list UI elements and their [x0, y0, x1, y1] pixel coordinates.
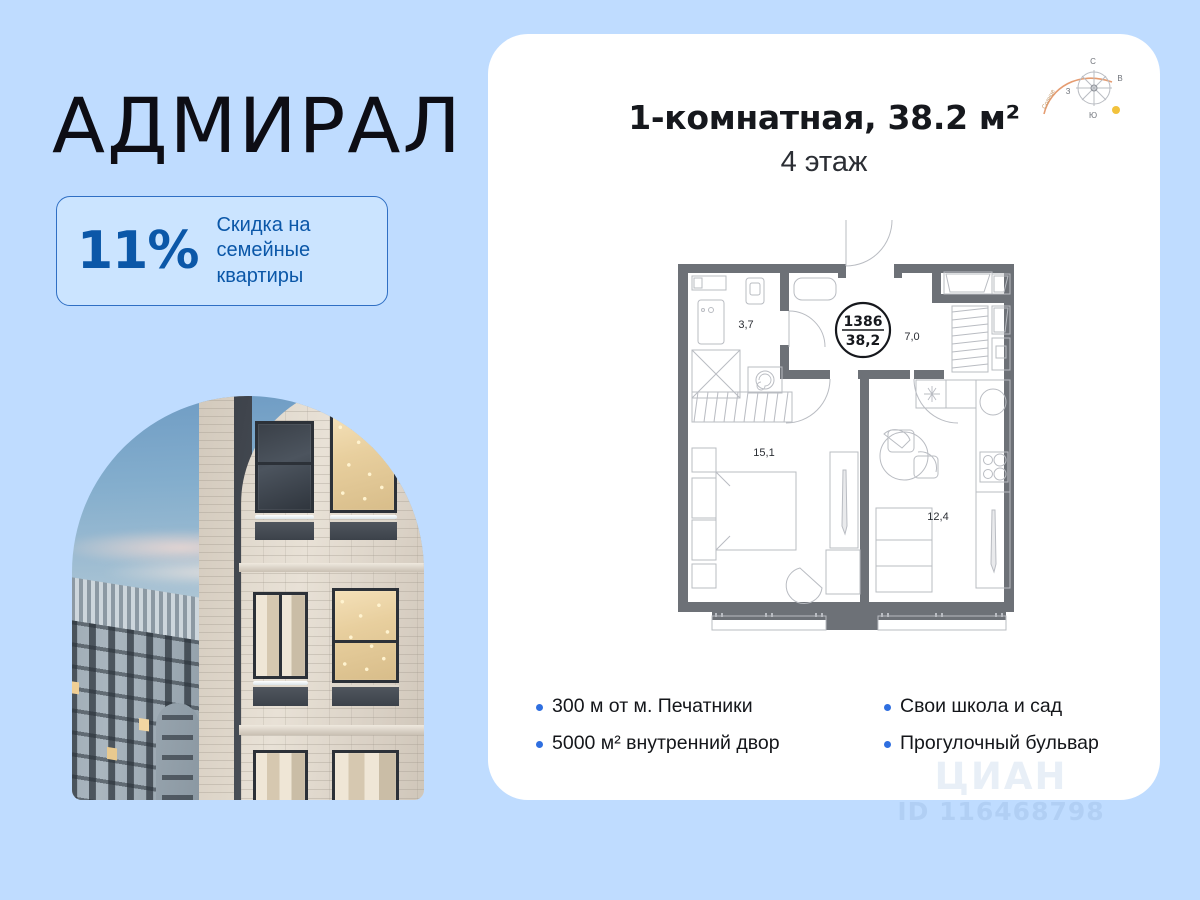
room-area-bathroom: 3,7	[738, 319, 753, 331]
left-panel: АДМИРАЛ 11% Скидка на семейные квартиры	[0, 0, 480, 900]
floor-plan-svg: 3,7 7,0 15,1 12,4 1386 38,2	[670, 220, 1030, 652]
bedroom-tall-cabinet	[786, 452, 860, 604]
apartment-number: 1386	[844, 314, 883, 330]
feature-item: Свои школа и сад	[884, 695, 1099, 717]
sun-icon	[1112, 106, 1120, 114]
kitchen-units	[916, 380, 1010, 588]
room-area-hall: 7,0	[904, 331, 919, 343]
tower-lit-windows	[72, 681, 79, 695]
facade-window-lit	[330, 413, 397, 513]
floor-plan-card: 1-комнатная, 38.2 м² 4 этаж С Ю В З Солн…	[488, 34, 1160, 800]
brick-facade	[241, 396, 424, 800]
compass-sun-label: Солнце	[1042, 88, 1057, 110]
compass-rose: С Ю В З Солнце	[1036, 48, 1132, 134]
features-column-left: 300 м от м. Печатники 5000 м² внутренний…	[536, 695, 858, 754]
page-root: АДМИРАЛ 11% Скидка на семейные квартиры	[0, 0, 1200, 900]
secondary-tower	[156, 703, 198, 800]
facade-window	[255, 421, 314, 513]
compass-south: Ю	[1089, 111, 1097, 120]
apartment-badge: 1386 38,2	[836, 303, 890, 357]
window-mullion	[279, 595, 282, 676]
photo-canvas	[72, 396, 424, 800]
facade-window-curtain	[332, 750, 399, 800]
balcony-railing	[332, 685, 399, 706]
brand-title: АДМИРАЛ	[52, 88, 463, 164]
feature-text: Свои школа и сад	[900, 695, 1062, 717]
hall-fixtures	[789, 278, 836, 347]
window-mullion	[335, 640, 396, 643]
facade-window-lit	[332, 588, 399, 684]
watermark-id: ID 116468798	[856, 797, 1146, 826]
balcony-railing	[255, 520, 314, 541]
facade-band	[239, 725, 424, 735]
features-list: 300 м от м. Печатники 5000 м² внутренний…	[536, 695, 1120, 754]
balcony-railing	[330, 520, 397, 541]
storage-hatch	[952, 306, 1010, 372]
compass-east: В	[1117, 74, 1122, 83]
bedroom-furniture	[692, 448, 796, 588]
features-column-right: Свои школа и сад Прогулочный бульвар	[884, 695, 1099, 754]
feature-item: 300 м от м. Печатники	[536, 695, 858, 717]
bullet-icon	[536, 741, 543, 748]
bedroom-wardrobe	[692, 392, 792, 422]
promo-discount-badge: 11% Скидка на семейные квартиры	[56, 196, 388, 306]
compass-west: З	[1066, 87, 1071, 96]
secondary-tower-windows	[162, 715, 192, 800]
string-lights	[333, 416, 394, 510]
feature-text: 5000 м² внутренний двор	[552, 732, 780, 754]
bullet-icon	[884, 741, 891, 748]
floor-plan-drawing: 3,7 7,0 15,1 12,4 1386 38,2	[670, 220, 1030, 652]
room-area-living: 12,4	[927, 511, 948, 523]
facade-window-curtain	[253, 592, 308, 679]
hall-storage	[944, 272, 1010, 294]
bullet-icon	[536, 704, 543, 711]
room-area-bedroom: 15,1	[753, 447, 774, 459]
entry-door	[846, 220, 892, 266]
feature-item: Прогулочный бульвар	[884, 732, 1099, 754]
facade-window-curtain	[253, 750, 308, 800]
promo-description: Скидка на семейные квартиры	[216, 213, 367, 290]
promo-percent: 11%	[77, 225, 198, 277]
floor-subtitle: 4 этаж	[488, 146, 1160, 179]
string-lights	[335, 591, 396, 681]
window-mullion	[258, 462, 311, 465]
bullet-icon	[884, 704, 891, 711]
balcony-railing	[253, 685, 308, 706]
compass-north: С	[1090, 57, 1096, 66]
facade-band	[239, 563, 424, 573]
apartment-area: 38,2	[846, 333, 881, 349]
bathroom-fixtures	[692, 276, 782, 398]
building-photo	[72, 396, 424, 800]
feature-item: 5000 м² внутренний двор	[536, 732, 858, 754]
feature-text: 300 м от м. Печатники	[552, 695, 753, 717]
feature-text: Прогулочный бульвар	[900, 732, 1099, 754]
